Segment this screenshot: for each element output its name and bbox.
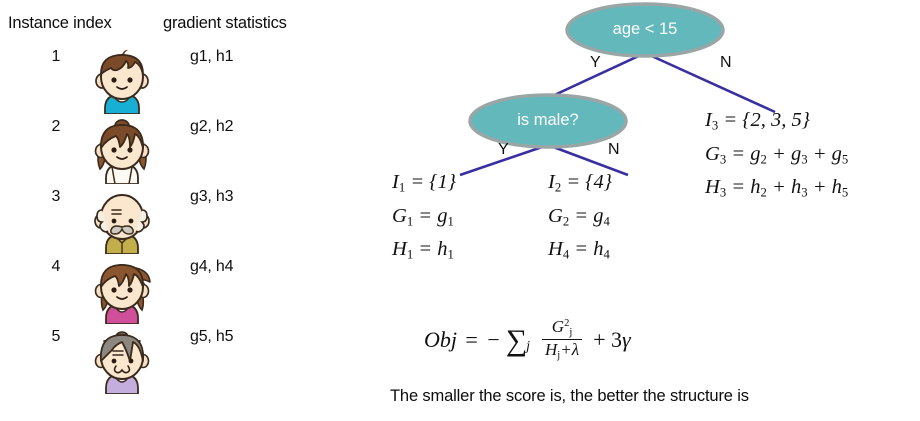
leaf1-g-line: G1 = g1 — [392, 202, 456, 236]
instance-index-value: 1 — [42, 48, 70, 66]
gradient-statistics-value: g4, h4 — [190, 258, 233, 276]
objective-minus: − — [486, 327, 501, 353]
instance-index-value: 2 — [42, 118, 70, 136]
leaf1-set-line: I1 = {1} — [392, 168, 456, 202]
old-woman-avatar-icon — [86, 328, 158, 394]
instance-index-value: 4 — [42, 258, 70, 276]
edge-root-no — [645, 53, 775, 112]
leaf1-h-line: H1 = h1 — [392, 235, 456, 269]
tree-node-root[interactable] — [567, 4, 723, 56]
leaf3-set-line: I3 = {2, 3, 5} — [705, 106, 848, 140]
summation-icon: ∑ — [506, 326, 527, 356]
leaf2-h-line: H4 = h4 — [548, 235, 612, 269]
leaf-block-2: I2 = {4} G2 = g4 H4 = h4 — [548, 168, 612, 269]
table-row: 5 g5, h5 — [0, 328, 350, 398]
objective-fraction: G2j Hj+λ — [542, 318, 582, 362]
branch-label-internal-yes: Y — [498, 141, 509, 159]
summation-index: j — [526, 339, 530, 355]
gradient-statistics-value: g2, h2 — [190, 118, 233, 136]
branch-label-root-no: N — [720, 54, 732, 72]
instance-index-value: 5 — [42, 328, 70, 346]
gradient-statistics-value: g5, h5 — [190, 328, 233, 346]
leaf2-set-line: I2 = {4} — [548, 168, 612, 202]
leaf-block-3: I3 = {2, 3, 5} G3 = g2 + g3 + g5 H3 = h2… — [705, 106, 848, 207]
objective-denominator: Hj+λ — [542, 339, 582, 361]
instance-table-panel: Instance index gradient statistics 1 g1,… — [0, 0, 350, 421]
leaf3-g-line: G3 = g2 + g3 + g5 — [705, 140, 848, 174]
gradient-statistics-value: g1, h1 — [190, 48, 233, 66]
gradient-statistics-value: g3, h3 — [190, 188, 233, 206]
objective-numerator: G2j — [549, 318, 575, 339]
boy-avatar-icon — [86, 48, 158, 114]
table-row: 2 g2, h2 — [0, 118, 350, 188]
table-row: 1 g1, h1 — [0, 48, 350, 118]
objective-equation: Obj = − ∑ j G2j Hj+λ + 3γ — [424, 318, 631, 362]
leaf-block-1: I1 = {1} G1 = g1 H1 = h1 — [392, 168, 456, 269]
leaf2-g-line: G2 = g4 — [548, 202, 612, 236]
table-row: 4 g4, h4 — [0, 258, 350, 328]
leaf3-h-line: H3 = h2 + h3 + h5 — [705, 173, 848, 207]
objective-lhs: Obj — [424, 327, 457, 353]
branch-label-root-yes: Y — [590, 54, 601, 72]
old-man-avatar-icon — [86, 188, 158, 254]
tree-node-is-male[interactable] — [470, 95, 626, 147]
caption-text: The smaller the score is, the better the… — [390, 387, 749, 406]
column-header-instance-index: Instance index — [8, 14, 112, 33]
branch-label-internal-no: N — [608, 141, 620, 159]
girl-avatar-icon — [86, 118, 158, 184]
objective-equals: = — [464, 327, 479, 353]
objective-plus-term: + 3γ — [593, 327, 631, 353]
column-header-gradient-statistics: gradient statistics — [163, 14, 287, 33]
young-woman-avatar-icon — [86, 258, 158, 324]
instance-index-value: 3 — [42, 188, 70, 206]
table-row: 3 g3, h3 — [0, 188, 350, 258]
